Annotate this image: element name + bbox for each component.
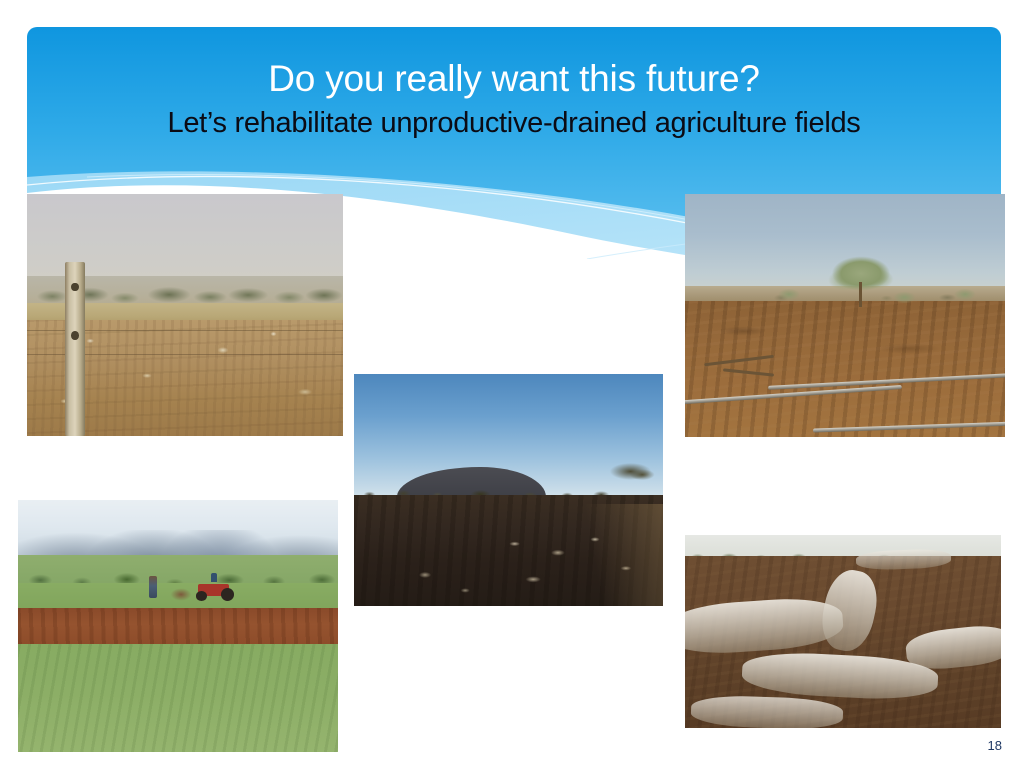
photo-pasture-tractor (18, 500, 338, 752)
tractor-driver (211, 573, 218, 582)
tractor-wheel-front (196, 591, 207, 601)
flooded-field-scene (685, 535, 1001, 728)
acacia-tree (826, 252, 896, 305)
small-tree (951, 286, 980, 303)
tractor-wheel-rear (221, 588, 234, 601)
photo-ploughed-field-tree (685, 194, 1005, 437)
stony-soil-layer (354, 495, 663, 606)
photo-dry-fenced-field (27, 194, 343, 436)
lower-grass-layer (18, 644, 338, 752)
page-title: Do you really want this future? (27, 56, 1001, 102)
ploughed-field-scene (685, 194, 1005, 437)
presentation-slide: Do you really want this future? Let’s re… (0, 0, 1024, 768)
page-subtitle: Let’s rehabilitate unproductive-drained … (27, 104, 1001, 142)
rocky-field-scene (354, 374, 663, 606)
photo-flooded-muddy-field (685, 535, 1001, 728)
red-tractor (194, 578, 236, 601)
ploughed-soil-strip (18, 608, 338, 648)
acacia-tree (604, 458, 657, 490)
dry-field-scene (27, 194, 343, 436)
title-block: Do you really want this future? Let’s re… (27, 56, 1001, 142)
slide-number: 18 (988, 738, 1002, 754)
draft-animals (168, 588, 194, 601)
tree-trunk (859, 282, 862, 308)
photo-rocky-field-hill (354, 374, 663, 606)
fence-post (65, 262, 86, 436)
small-tree (775, 286, 804, 303)
farmer-figure (149, 576, 157, 599)
pasture-scene (18, 500, 338, 752)
